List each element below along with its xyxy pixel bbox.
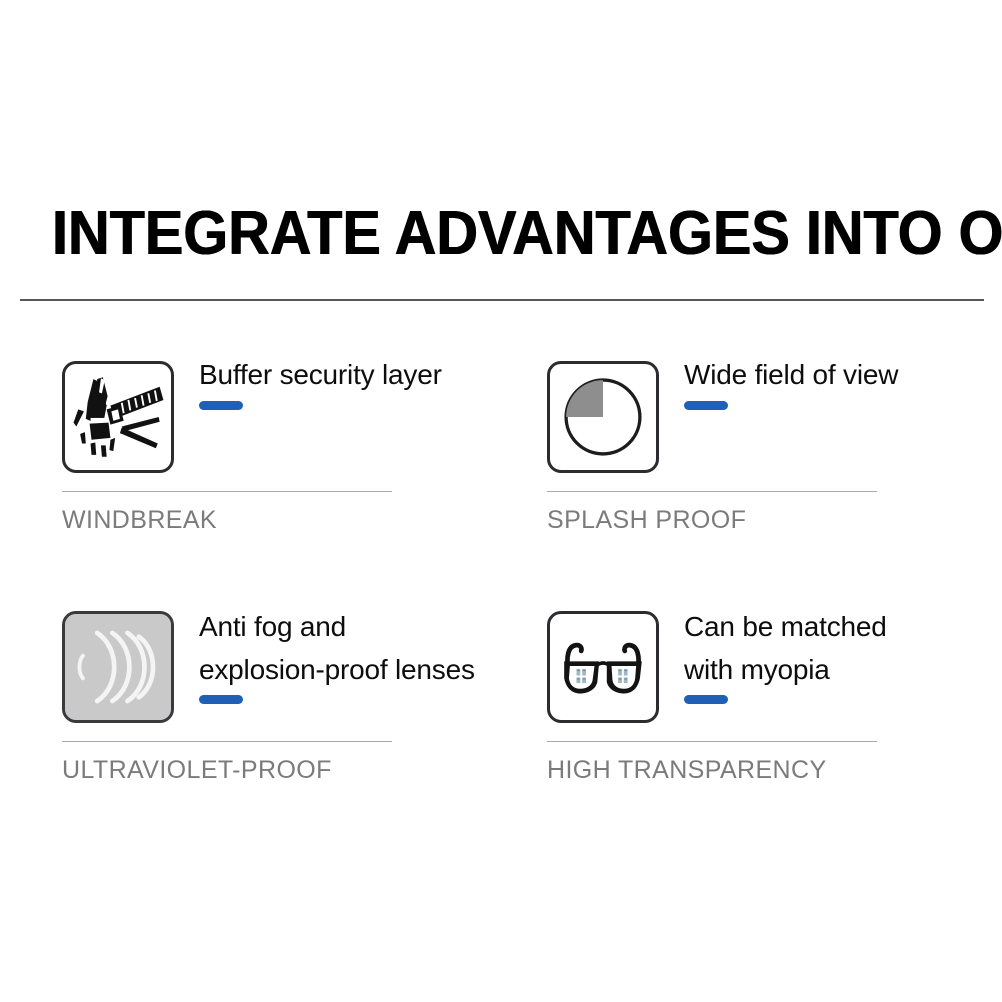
feature-divider [62,741,392,742]
feature-divider [547,491,877,492]
feature-title: Buffer security layer [199,355,499,395]
infographic-page: INTEGRATE ADVANTAGES INTO ONE [0,0,1002,1002]
feature-card-top: Wide field of view [547,355,967,483]
pie-field-of-view-icon [547,361,659,473]
feature-label: WINDBREAK [62,505,217,535]
feature-card-top: Buffer security layer [62,355,482,483]
feature-card: Buffer security layer WINDBREAK [62,355,482,483]
feature-card: Can be matched with myopia HIGH TRANSPAR… [547,605,967,733]
accent-dash [684,401,728,410]
feature-label: HIGH TRANSPARENCY [547,755,827,785]
feature-card-text: Buffer security layer [199,355,499,410]
feature-card: Wide field of view SPLASH PROOF [547,355,967,483]
feature-card-top: Can be matched with myopia [547,605,967,733]
feature-label: SPLASH PROOF [547,505,746,535]
header-divider [20,299,984,301]
feature-title: Can be matched with myopia [684,605,984,691]
hammer-impact-icon [62,361,174,473]
feature-title: Anti fog and explosion-proof lenses [199,605,499,691]
feature-card: Anti fog and explosion-proof lenses ULTR… [62,605,482,733]
feature-label: ULTRAVIOLET-PROOF [62,755,332,785]
page-title: INTEGRATE ADVANTAGES INTO ONE [52,198,889,270]
feature-card-text: Anti fog and explosion-proof lenses [199,605,499,704]
accent-dash [199,401,243,410]
stacked-lenses-icon [62,611,174,723]
feature-card-top: Anti fog and explosion-proof lenses [62,605,482,733]
feature-title: Wide field of view [684,355,984,395]
feature-card-text: Can be matched with myopia [684,605,984,704]
feature-divider [547,741,877,742]
eyeglasses-eyechart-icon [547,611,659,723]
feature-card-text: Wide field of view [684,355,984,410]
accent-dash [684,695,728,704]
accent-dash [199,695,243,704]
feature-divider [62,491,392,492]
